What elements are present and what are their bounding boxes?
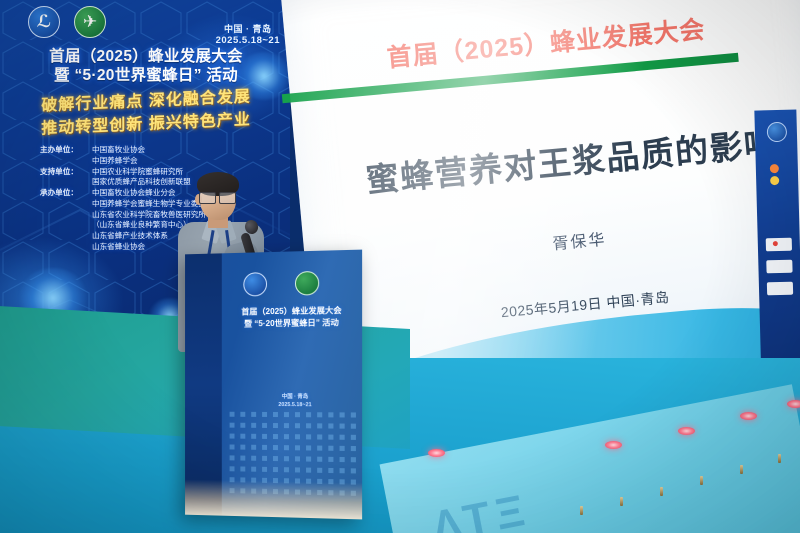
podium-side-face (185, 253, 222, 515)
beekeeping-society-logo (295, 271, 319, 296)
organizer-label: 主办单位： (40, 145, 92, 156)
banner-title: 首届（2025）蜂业发展大会 暨 “5·20世界蜜蜂日” 活动 (12, 48, 280, 86)
stage-footlight-icon (428, 449, 445, 457)
stage-footlight-icon (678, 427, 695, 435)
side-banner (754, 109, 800, 390)
china-animal-agriculture-association-logo (243, 272, 267, 296)
stage-edge-stud (660, 487, 663, 496)
side-banner-dot-icon (770, 176, 779, 185)
stage-footlight-icon (740, 412, 757, 420)
stage-footlight-icon (787, 400, 800, 408)
podium-date-text: 2025.5.18~21 (235, 401, 355, 409)
side-banner-dot-icon (770, 164, 779, 173)
organizer-value: 中国养蜂学会 (92, 156, 145, 167)
stage-edge-stud (700, 476, 703, 485)
banner-title-line1: 首届（2025）蜂业发展大会 (12, 48, 280, 67)
podium-title: 首届（2025）蜂业发展大会 暨 “5·20世界蜜蜂日” 活动 (228, 305, 356, 331)
organizer-group: 主办单位： 中国畜牧业协会 中国养蜂学会 (40, 145, 214, 167)
podium: 首届（2025）蜂业发展大会 暨 “5·20世界蜜蜂日” 活动 中国 · 青岛 … (185, 250, 362, 520)
slide-author: 胥保华 (344, 207, 800, 273)
organizer-value: 中国畜牧业协会 (92, 145, 145, 156)
stage-footlight-icon (605, 441, 622, 449)
banner-logo-group: ℒ ✈ (28, 6, 106, 38)
china-animal-agriculture-association-logo: ℒ (28, 6, 60, 38)
slide-header: 首届（2025）蜂业发展大会 (385, 2, 787, 74)
banner-title-line2: 暨 “5·20世界蜜蜂日” 活动 (12, 67, 280, 86)
stage-edge-stud (778, 454, 781, 463)
slide-title: 蜜蜂营养对王浆品质的影响 (336, 114, 800, 204)
podium-bottom-glow (185, 479, 362, 519)
organizer-label: 支持单位： (40, 167, 92, 178)
apron-signage-text: ΛΤΞ (428, 485, 535, 533)
glasses-icon (199, 192, 237, 202)
banner-date-text: 2025.5.18~21 (216, 35, 280, 47)
side-banner-dot-icon (773, 241, 778, 246)
stage-edge-stud (620, 497, 623, 506)
stage-edge-stud (580, 506, 583, 515)
conference-photo-scene: ℒ ✈ 中国 · 青岛 2025.5.18~21 首届（2025）蜂业发展大会 … (0, 0, 800, 533)
side-banner-logo-icon (767, 122, 788, 143)
banner-place-date: 中国 · 青岛 2025.5.18~21 (216, 24, 280, 47)
side-banner-chip (766, 260, 792, 274)
stage-edge-stud (740, 465, 743, 474)
banner-place-text: 中国 · 青岛 (216, 24, 280, 35)
side-banner-chip (767, 282, 793, 296)
beekeeping-society-logo: ✈ (74, 6, 106, 38)
podium-logo-group (243, 271, 319, 297)
side-banner-chip (766, 238, 792, 252)
organizer-label: 承办单位： (40, 188, 92, 199)
podium-place-date: 中国 · 青岛 2025.5.18~21 (235, 394, 355, 410)
podium-title-line2: 暨 “5·20世界蜜蜂日” 活动 (228, 317, 356, 331)
